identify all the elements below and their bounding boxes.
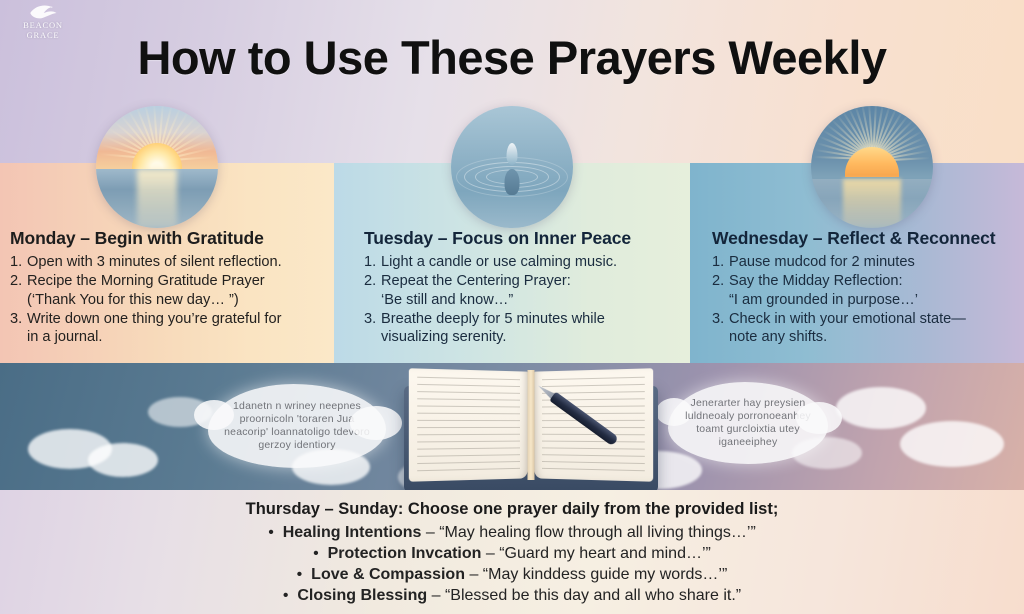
step-text: Pause mudcod for 2 minutes bbox=[729, 254, 915, 270]
weekend-lead-text: Thursday – Sunday: Choose one prayer dai… bbox=[0, 500, 1024, 519]
step-text: Recipe the Morning Gratitude Prayer bbox=[27, 273, 265, 289]
water-droplet-icon bbox=[507, 143, 518, 165]
list-item: 1. Pause mudcod for 2 minutes bbox=[712, 253, 1022, 272]
step-subtext: ‘Be still and know…” bbox=[381, 291, 686, 310]
step-text: Say the Midday Reflection: bbox=[729, 273, 903, 289]
bullet-icon: • bbox=[313, 545, 323, 562]
thought-bubble-left: 1danetn n wriney neepnes proornicoln 'to… bbox=[208, 384, 386, 468]
prayer-name: Protection Invcation bbox=[328, 545, 482, 562]
step-text: Check in with your emotional state— bbox=[729, 311, 966, 327]
prayer-name: Closing Blessing bbox=[297, 587, 427, 604]
bullet-icon: • bbox=[297, 566, 307, 583]
list-item: • Protection Invcation – “Guard my heart… bbox=[0, 543, 1024, 564]
step-subtext: (‘Thank You for this new day… ”) bbox=[27, 291, 326, 310]
sunset-rays-image bbox=[811, 106, 933, 228]
cloud-decoration bbox=[836, 387, 926, 429]
list-item: • Love & Compassion – “May kinddess guid… bbox=[0, 564, 1024, 585]
prayer-quote: “May healing flow through all living thi… bbox=[439, 524, 756, 541]
prayer-name: Healing Intentions bbox=[283, 524, 422, 541]
prayer-dash: – bbox=[426, 524, 439, 541]
list-item: 1. Open with 3 minutes of silent reflect… bbox=[10, 253, 326, 272]
infographic-poster: BEACON GRACE How to Use These Prayers We… bbox=[0, 0, 1024, 614]
page-title: How to Use These Prayers Weekly bbox=[0, 30, 1024, 85]
step-number: 2. bbox=[712, 272, 729, 309]
list-item: 1. Light a candle or use calming music. bbox=[364, 253, 686, 272]
prayer-dash: – bbox=[432, 587, 445, 604]
dove-icon bbox=[28, 3, 58, 20]
thought-bubble-right: Jenerarter hay preysien luldneoaly porro… bbox=[668, 382, 828, 464]
prayer-dash: – bbox=[469, 566, 482, 583]
step-text: Write down one thing you’re grateful for bbox=[27, 311, 281, 327]
step-number: 2. bbox=[364, 272, 381, 309]
list-item: 2. Recipe the Morning Gratitude Prayer (… bbox=[10, 272, 326, 309]
bubble-text: 1danetn n wriney neepnes proornicoln 'to… bbox=[208, 400, 386, 452]
step-number: 3. bbox=[364, 310, 381, 347]
open-journal-with-pen-image bbox=[400, 362, 662, 496]
step-subtext: in a journal. bbox=[27, 328, 326, 347]
step-number: 1. bbox=[10, 253, 27, 272]
day-column-wednesday: Wednesday – Reflect & Reconnect 1. Pause… bbox=[712, 228, 1022, 347]
step-number: 2. bbox=[10, 272, 27, 309]
step-number: 3. bbox=[10, 310, 27, 347]
list-item: • Healing Intentions – “May healing flow… bbox=[0, 522, 1024, 543]
step-number: 3. bbox=[712, 310, 729, 347]
day-column-monday: Monday – Begin with Gratitude 1. Open wi… bbox=[10, 228, 326, 347]
step-subtext: “I am grounded in purpose…’ bbox=[729, 291, 1022, 310]
water-droplet-ripple-image bbox=[451, 106, 573, 228]
prayer-quote: “Guard my heart and mind…’” bbox=[499, 545, 711, 562]
day-title: Monday – Begin with Gratitude bbox=[10, 228, 326, 249]
list-item: 2. Repeat the Centering Prayer: ‘Be stil… bbox=[364, 272, 686, 309]
prayer-name: Love & Compassion bbox=[311, 566, 465, 583]
bullet-icon: • bbox=[283, 587, 293, 604]
prayer-dash: – bbox=[486, 545, 499, 562]
list-item: 2. Say the Midday Reflection: “I am grou… bbox=[712, 272, 1022, 309]
prayer-quote: “Blessed be this day and all who share i… bbox=[445, 587, 741, 604]
step-subtext: visualizing serenity. bbox=[381, 328, 686, 347]
day-column-tuesday: Tuesday – Focus on Inner Peace 1. Light … bbox=[364, 228, 686, 347]
step-text: Repeat the Centering Prayer: bbox=[381, 273, 571, 289]
bubble-text: Jenerarter hay preysien luldneoaly porro… bbox=[668, 397, 828, 449]
list-item: • Closing Blessing – “Blessed be this da… bbox=[0, 585, 1024, 606]
list-item: 3. Breathe deeply for 5 minutes while vi… bbox=[364, 310, 686, 347]
list-item: 3. Check in with your emotional state— n… bbox=[712, 310, 1022, 347]
step-text: Open with 3 minutes of silent reflection… bbox=[27, 254, 282, 270]
cloud-decoration bbox=[88, 443, 158, 477]
day-steps-list: 1. Pause mudcod for 2 minutes 2. Say the… bbox=[712, 253, 1022, 347]
list-item: 3. Write down one thing you’re grateful … bbox=[10, 310, 326, 347]
step-subtext: note any shifts. bbox=[729, 328, 1022, 347]
step-number: 1. bbox=[364, 253, 381, 272]
prayer-quote: “May kinddess guide my words…’” bbox=[483, 566, 728, 583]
day-title: Wednesday – Reflect & Reconnect bbox=[712, 228, 1022, 249]
bullet-icon: • bbox=[268, 524, 278, 541]
step-text: Breathe deeply for 5 minutes while bbox=[381, 311, 605, 327]
cloud-decoration bbox=[900, 421, 1004, 467]
day-steps-list: 1. Light a candle or use calming music. … bbox=[364, 253, 686, 347]
day-title: Tuesday – Focus on Inner Peace bbox=[364, 228, 686, 249]
weekend-section: Thursday – Sunday: Choose one prayer dai… bbox=[0, 500, 1024, 606]
day-steps-list: 1. Open with 3 minutes of silent reflect… bbox=[10, 253, 326, 347]
prayer-options-list: • Healing Intentions – “May healing flow… bbox=[0, 522, 1024, 606]
step-number: 1. bbox=[712, 253, 729, 272]
sunrise-over-ocean-image bbox=[96, 106, 218, 228]
step-text: Light a candle or use calming music. bbox=[381, 254, 617, 270]
